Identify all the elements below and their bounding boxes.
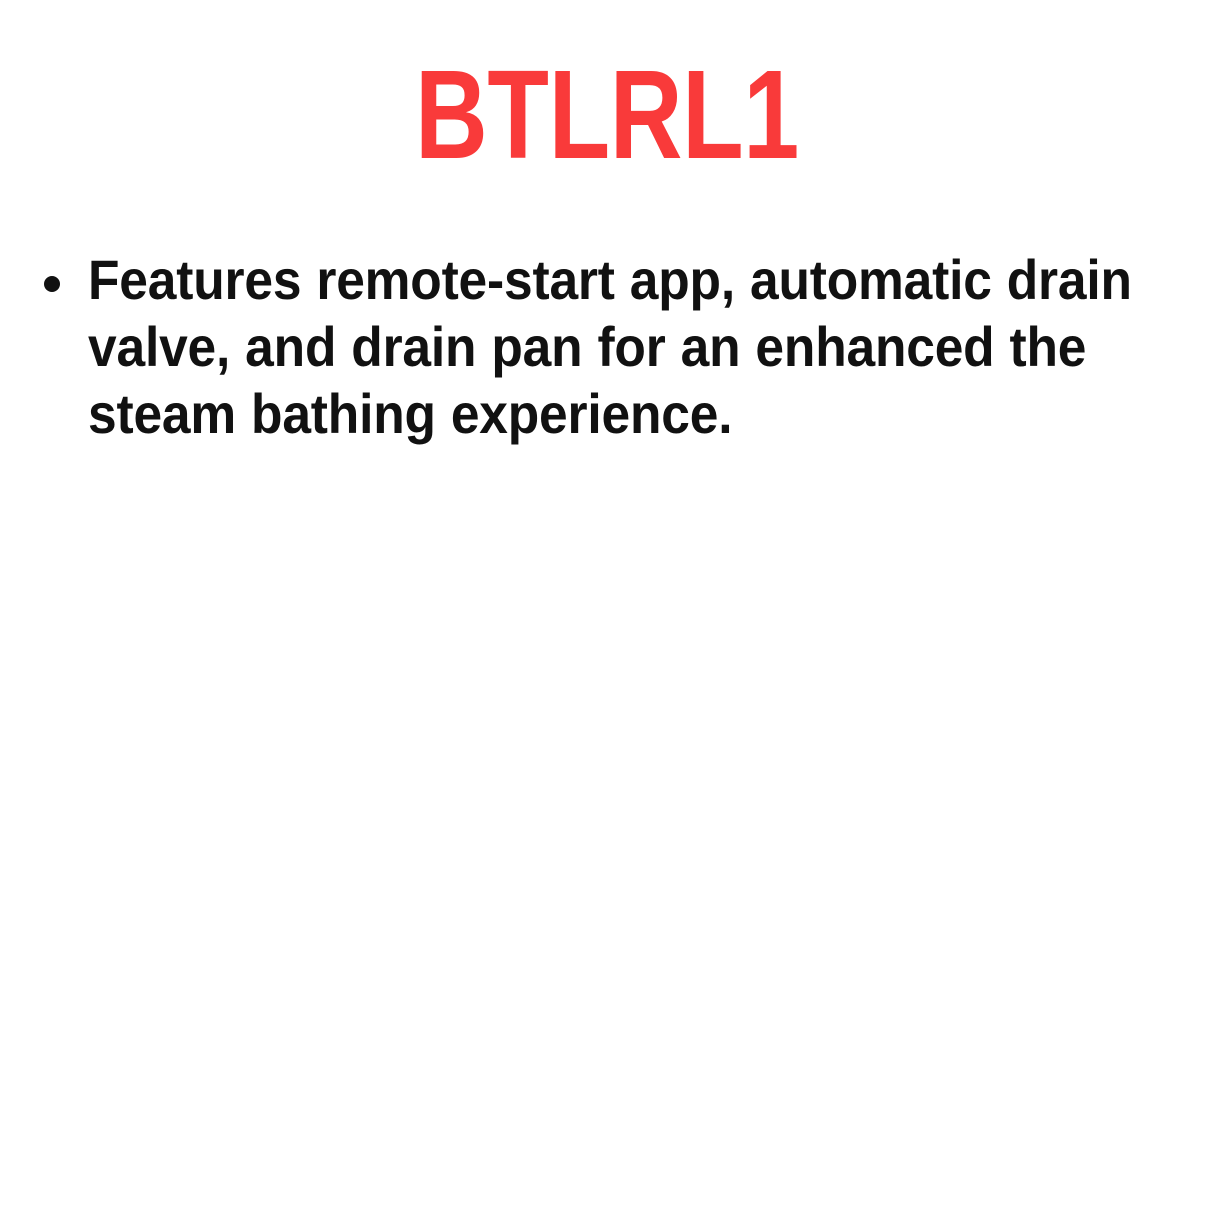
page-title: BTLRL1 [415, 52, 799, 178]
list-item: Features remote-start app, automatic dra… [0, 246, 1214, 447]
feature-list: Features remote-start app, automatic dra… [0, 246, 1214, 447]
title-block: BTLRL1 [0, 52, 1214, 178]
features-block: Features remote-start app, automatic dra… [0, 246, 1214, 457]
bullet-disc-icon [44, 276, 60, 292]
product-spec-card: BTLRL1 Features remote-start app, automa… [0, 0, 1214, 1214]
feature-text: Features remote-start app, automatic dra… [88, 246, 1162, 447]
